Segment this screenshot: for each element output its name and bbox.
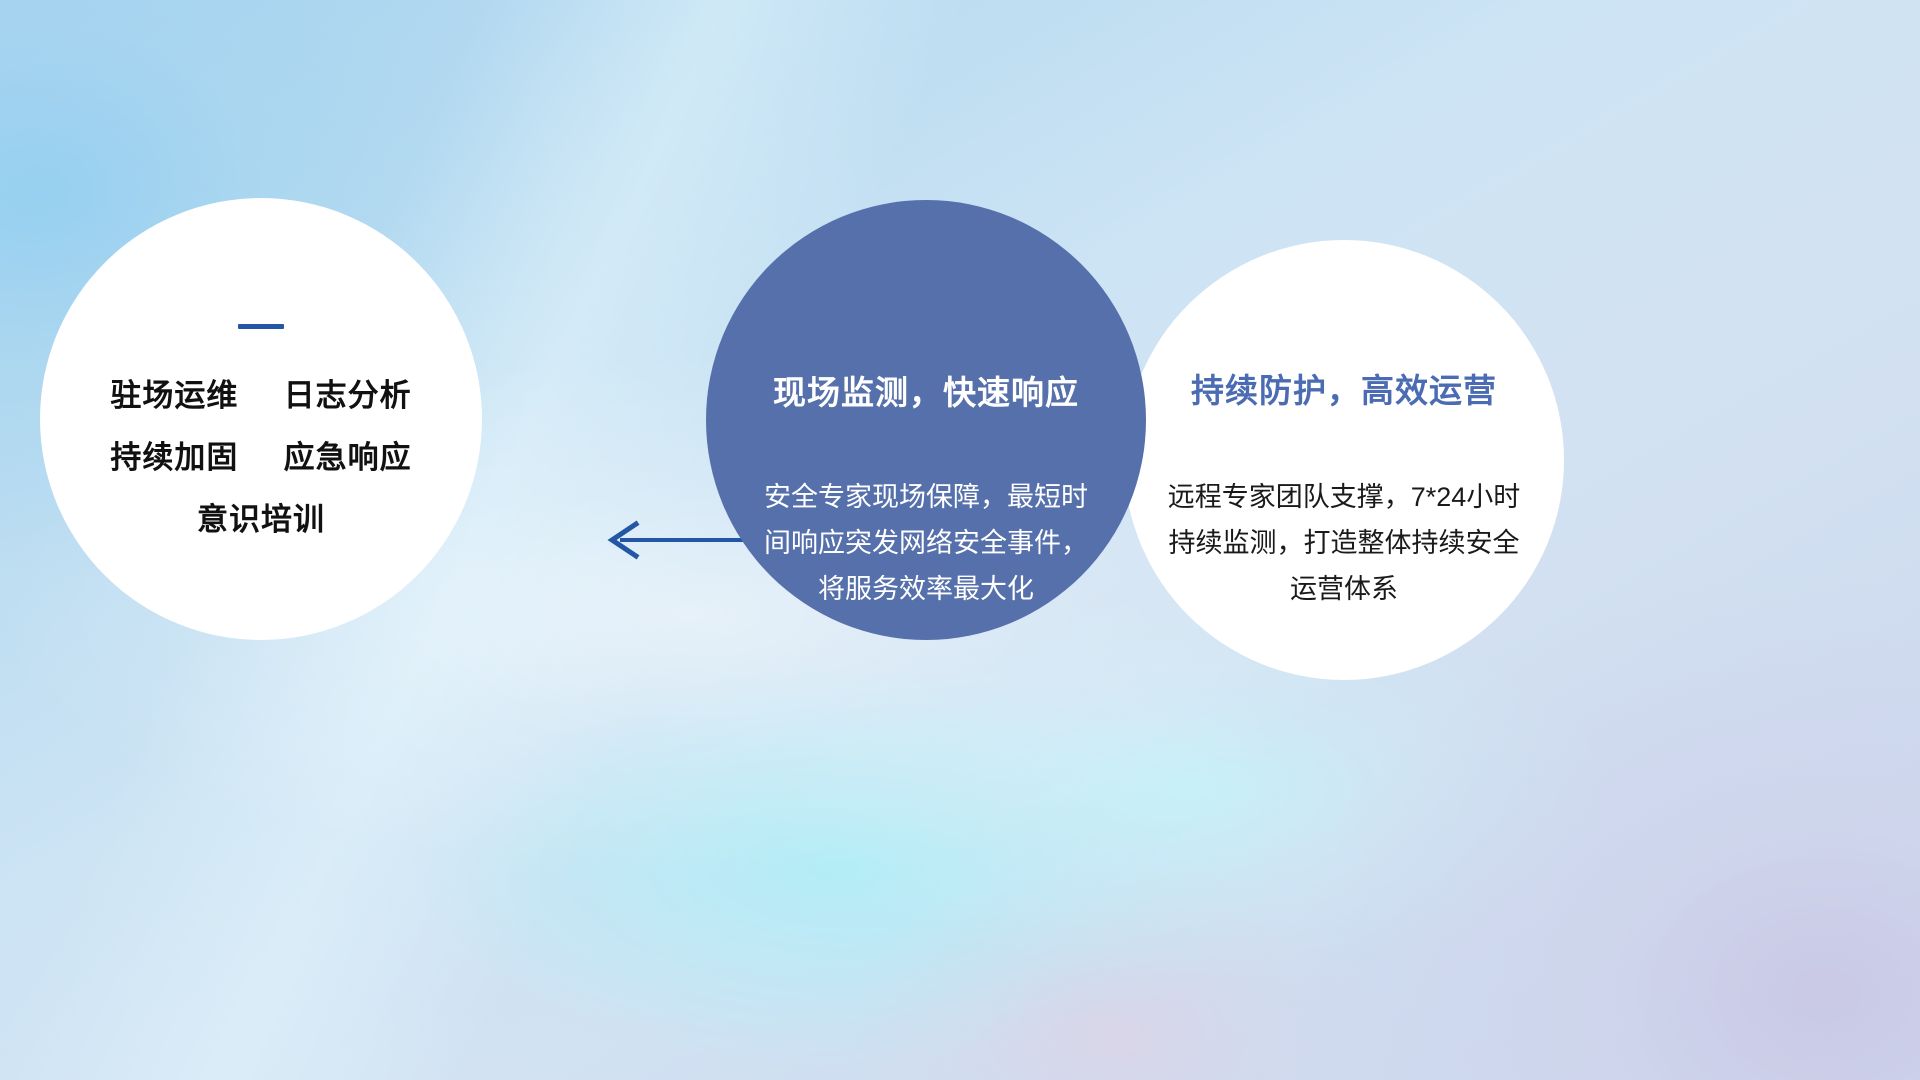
center-circle-title: 现场监测，快速响应 [773, 366, 1079, 414]
right-circle-body: 远程专家团队支撑，7*24小时持续监测，打造整体持续安全运营体系 [1158, 474, 1530, 612]
capability-list: 驻场运维 日志分析 持续加固 应急响应 意识培训 [110, 365, 411, 551]
capability-row-3: 意识培训 [110, 489, 411, 551]
capability-circle-center: 现场监测，快速响应 安全专家现场保障，最短时间响应突发网络安全事件，将服务效率最… [706, 200, 1146, 640]
capability-circle-left: 驻场运维 日志分析 持续加固 应急响应 意识培训 [40, 198, 482, 640]
capability-item-1: 驻场运维 [110, 378, 238, 413]
slide-canvas: 驻场运维 日志分析 持续加固 应急响应 意识培训 持续防护，高效运营 远程专家团… [0, 0, 1920, 1080]
capability-item-2: 日志分析 [284, 378, 412, 413]
capability-circle-right: 持续防护，高效运营 远程专家团队支撑，7*24小时持续监测，打造整体持续安全运营… [1124, 240, 1564, 680]
title-divider [238, 324, 284, 329]
capability-item-4: 应急响应 [284, 440, 412, 475]
capability-row-2: 持续加固 应急响应 [110, 427, 411, 489]
center-circle-body: 安全专家现场保障，最短时间响应突发网络安全事件，将服务效率最大化 [761, 474, 1091, 612]
capability-item-3: 持续加固 [110, 440, 238, 475]
right-circle-title: 持续防护，高效运营 [1191, 364, 1497, 412]
capability-item-5: 意识培训 [197, 502, 325, 537]
capability-row-1: 驻场运维 日志分析 [110, 365, 411, 427]
